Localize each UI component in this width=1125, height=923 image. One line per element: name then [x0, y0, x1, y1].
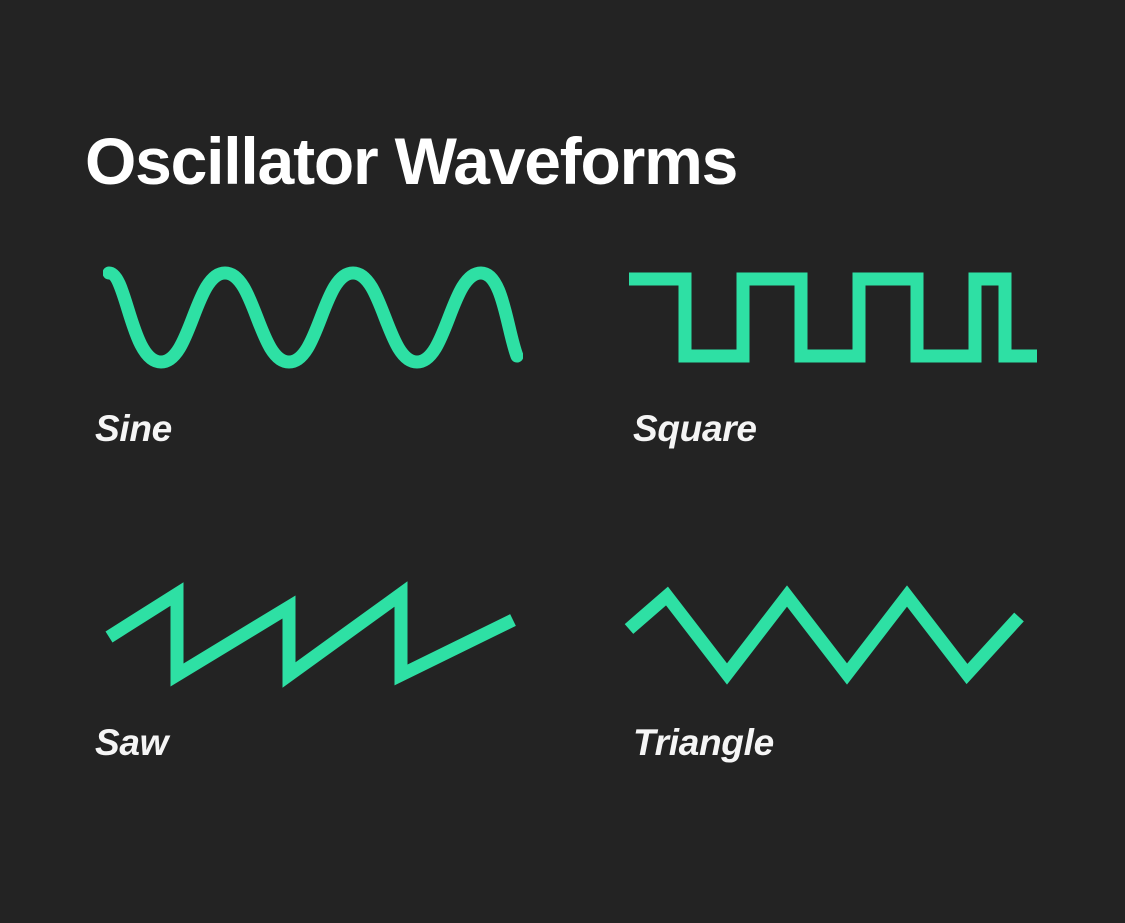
waveform-card-square[interactable]: Square [605, 255, 1065, 505]
sawtooth-wave-icon [103, 575, 523, 700]
waveform-label-triangle: Triangle [633, 722, 1065, 764]
waveform-grid: Sine Square Saw Triangle [0, 245, 1125, 865]
square-wave-icon [623, 255, 1043, 380]
slide-canvas: Oscillator Waveforms Sine Square Saw [0, 0, 1125, 923]
waveform-label-square: Square [633, 408, 1065, 450]
sine-wave-icon [103, 255, 523, 380]
triangle-wave-icon [623, 575, 1043, 700]
sine-wave-path [109, 273, 517, 362]
triangle-wave-path [629, 596, 1019, 674]
sawtooth-wave-path [109, 594, 513, 675]
page-title: Oscillator Waveforms [85, 127, 737, 196]
waveform-card-saw[interactable]: Saw [85, 575, 545, 825]
square-wave-path [629, 279, 1037, 356]
waveform-label-saw: Saw [95, 722, 545, 764]
waveform-card-triangle[interactable]: Triangle [605, 575, 1065, 825]
waveform-label-sine: Sine [95, 408, 545, 450]
waveform-card-sine[interactable]: Sine [85, 255, 545, 505]
